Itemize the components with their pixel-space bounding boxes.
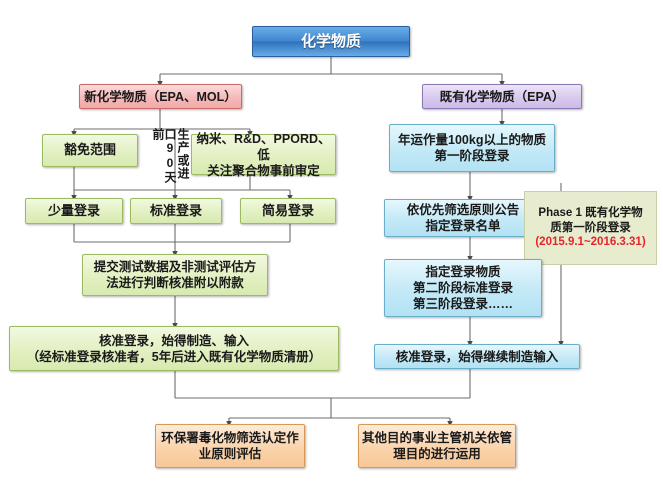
node-designated-substances-phase-two-three[interactable]: 指定登录物质 第二阶段标准登录 第三阶段登录…… — [384, 259, 542, 317]
node-label: 既有化学物质（EPA） — [426, 89, 578, 105]
node-approved-registration-manufacture-import[interactable]: 核准登录，始得制造、输入 （经标准登录核准者，5年后进入既有化学物质清册） — [9, 326, 339, 371]
node-submit-test-data-assessment[interactable]: 提交测试数据及非测试评估方 法进行判断核准附以附款 — [82, 254, 268, 296]
node-label-line2: 第一阶段登录 — [393, 148, 551, 164]
node-other-competent-authorities-usage[interactable]: 其他目的事业主管机关依管 理目的进行运用 — [358, 424, 516, 468]
node-approved-continue-manufacture-import[interactable]: 核准登录，始得继续制造输入 — [374, 344, 580, 369]
node-epa-toxic-chemical-screening-assessment[interactable]: 环保署毒化物筛选认定作 业原则评估 — [155, 424, 305, 468]
vertical-text-col-left: 口90天前 — [152, 128, 176, 188]
node-exemption-scope[interactable]: 豁免范围 — [42, 134, 138, 167]
node-small-quantity-registration[interactable]: 少量登录 — [25, 198, 123, 224]
node-label-line2: 关注聚合物事前审定 — [195, 163, 332, 179]
node-label: 新化学物质（EPA、MOL） — [83, 89, 238, 105]
node-label-line1: 纳米、R&D、PPORD、低 — [195, 131, 332, 163]
callout-line2: 质第一阶段登录 — [528, 221, 653, 236]
node-label: 核准登录，始得继续制造输入 — [378, 349, 576, 365]
node-chemical-substances[interactable]: 化学物质 — [252, 26, 410, 57]
node-label-line1: 年运作量100kg以上的物质 — [393, 132, 551, 148]
vertical-text-col-right: 生产或进 — [177, 128, 189, 188]
node-annual-volume-100kg-phase-one[interactable]: 年运作量100kg以上的物质 第一阶段登录 — [389, 124, 555, 172]
label-90-days-before-production-or-import: 生产或进 口90天前 — [152, 128, 189, 188]
node-priority-screening-designated-list[interactable]: 依优先筛选原则公告 指定登录名单 — [384, 199, 542, 237]
callout-date-range: (2015.9.1~2016.3.31) — [528, 235, 653, 250]
node-label: 豁免范围 — [46, 142, 134, 159]
node-label-line1: 提交测试数据及非测试评估方 — [86, 259, 264, 275]
node-label-line2: 指定登录名单 — [388, 218, 538, 234]
node-label: 简易登录 — [244, 203, 332, 220]
node-label-line2: 法进行判断核准附以附款 — [86, 275, 264, 291]
callout-line1: Phase 1 既有化学物 — [528, 206, 653, 221]
callout-phase-one-existing-chemical-registration[interactable]: Phase 1 既有化学物 质第一阶段登录 (2015.9.1~2016.3.3… — [524, 191, 657, 265]
node-label-line3: 第三阶段登录…… — [388, 296, 538, 312]
node-label-line1: 其他目的事业主管机关依管 — [362, 430, 512, 446]
node-label-line2: 业原则评估 — [159, 446, 301, 462]
node-nano-rd-ppord-low-concern-polymer-preapproval[interactable]: 纳米、R&D、PPORD、低 关注聚合物事前审定 — [191, 134, 336, 175]
node-label-line2: 理目的进行运用 — [362, 446, 512, 462]
node-label: 化学物质 — [256, 32, 406, 51]
node-standard-registration[interactable]: 标准登录 — [130, 198, 222, 224]
node-label: 标准登录 — [134, 203, 218, 220]
node-label-line2: 第二阶段标准登录 — [388, 280, 538, 296]
node-new-chemical-substances[interactable]: 新化学物质（EPA、MOL） — [79, 84, 242, 109]
node-label-line1: 核准登录，始得制造、输入 — [13, 333, 335, 349]
flowchart-canvas: 化学物质 新化学物质（EPA、MOL） 既有化学物质（EPA） 豁免范围 生产或… — [0, 0, 663, 491]
node-label-line2: （经标准登录核准者，5年后进入既有化学物质清册） — [13, 349, 335, 365]
node-label-line1: 依优先筛选原则公告 — [388, 202, 538, 218]
node-label-line1: 环保署毒化物筛选认定作 — [159, 430, 301, 446]
node-label-line1: 指定登录物质 — [388, 264, 538, 280]
node-label: 少量登录 — [29, 203, 119, 220]
node-simplified-registration[interactable]: 简易登录 — [240, 198, 336, 224]
node-existing-chemical-substances[interactable]: 既有化学物质（EPA） — [422, 84, 582, 109]
